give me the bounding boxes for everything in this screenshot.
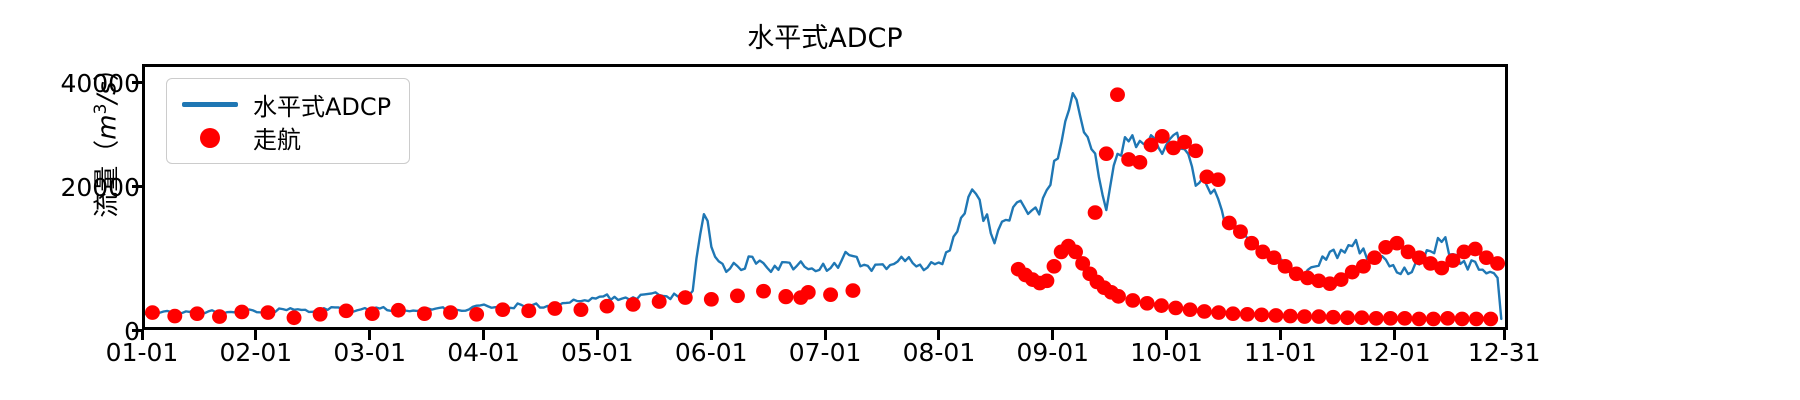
- scatter-point: [1254, 308, 1269, 323]
- y-axis-label-suffix: ）: [93, 55, 123, 81]
- legend-item-zouhang[interactable]: 走航: [179, 121, 391, 154]
- scatter-point: [1188, 143, 1203, 158]
- scatter-point: [793, 290, 808, 305]
- scatter-point: [1340, 310, 1355, 325]
- scatter-point: [730, 288, 745, 303]
- scatter-point: [469, 307, 484, 322]
- scatter-point: [1039, 273, 1054, 288]
- scatter-point: [678, 290, 693, 305]
- scatter-point: [1440, 311, 1455, 326]
- scatter-point: [1111, 289, 1126, 304]
- scatter-point: [190, 306, 205, 321]
- legend-line-swatch-icon: [179, 102, 241, 107]
- scatter-point: [1483, 312, 1498, 327]
- scatter-point: [1367, 250, 1382, 265]
- y-axis-label-prefix: 流量（: [93, 140, 123, 218]
- scatter-point: [145, 305, 160, 320]
- legend-label-adcp: 水平式ADCP: [253, 87, 391, 122]
- scatter-point: [1369, 311, 1384, 326]
- scatter-point: [600, 299, 615, 314]
- scatter-point: [652, 294, 667, 309]
- figure-canvas: 水平式ADCP 40000 20000 0 流量（m3/s） 01-0102-0…: [0, 0, 1800, 400]
- scatter-point: [1311, 309, 1326, 324]
- scatter-point: [1211, 305, 1226, 320]
- scatter-point: [1326, 310, 1341, 325]
- scatter-point: [547, 301, 562, 316]
- y-axis-label-exponent: 3: [91, 104, 111, 115]
- scatter-point: [1426, 312, 1441, 327]
- scatter-point: [1383, 311, 1398, 326]
- scatter-point: [1047, 259, 1062, 274]
- scatter-point: [1233, 224, 1248, 239]
- scatter-point: [845, 283, 860, 298]
- scatter-point: [1412, 312, 1427, 327]
- scatter-point: [260, 305, 275, 320]
- scatter-point: [1154, 298, 1169, 313]
- page-title: 水平式ADCP: [142, 22, 1508, 56]
- scatter-point: [365, 306, 380, 321]
- scatter-point: [1226, 306, 1241, 321]
- scatter-point: [1168, 301, 1183, 316]
- scatter-point: [573, 302, 588, 317]
- scatter-point: [1240, 307, 1255, 322]
- scatter-point: [823, 287, 838, 302]
- ytick-mark-40000: [132, 81, 142, 84]
- scatter-point: [1268, 308, 1283, 323]
- scatter-point: [417, 306, 432, 321]
- scatter-point: [443, 305, 458, 320]
- scatter-point: [167, 309, 182, 324]
- scatter-point: [1155, 129, 1170, 144]
- scatter-point: [778, 289, 793, 304]
- scatter-point: [391, 303, 406, 318]
- scatter-point: [1283, 309, 1298, 324]
- xtick-label-12-31: 12-31: [1424, 338, 1584, 367]
- legend-item-adcp[interactable]: 水平式ADCP: [179, 88, 391, 121]
- scatter-point: [1490, 256, 1505, 271]
- scatter-point: [704, 292, 719, 307]
- y-axis-label-unit: m: [93, 114, 123, 139]
- scatter-point: [495, 302, 510, 317]
- scatter-point: [234, 305, 249, 320]
- legend[interactable]: 水平式ADCP 走航: [166, 78, 410, 164]
- scatter-point: [521, 303, 536, 318]
- scatter-point: [1125, 293, 1140, 308]
- scatter-point: [626, 297, 641, 312]
- scatter-point: [1211, 172, 1226, 187]
- ytick-mark-20000: [132, 185, 142, 188]
- scatter-point: [1183, 302, 1198, 317]
- scatter-point: [1088, 205, 1103, 220]
- scatter-point: [1197, 304, 1212, 319]
- scatter-point: [1354, 310, 1369, 325]
- legend-dot-swatch-icon: [179, 128, 241, 148]
- scatter-point: [1397, 311, 1412, 326]
- scatter-point: [756, 284, 771, 299]
- legend-label-zouhang: 走航: [253, 120, 301, 155]
- scatter-point: [1110, 87, 1125, 102]
- scatter-point: [1132, 155, 1147, 170]
- scatter-point: [1297, 309, 1312, 324]
- scatter-point: [287, 310, 302, 325]
- scatter-point: [339, 303, 354, 318]
- scatter-point: [212, 309, 227, 324]
- scatter-point: [1455, 312, 1470, 327]
- scatter-point: [313, 307, 328, 322]
- y-axis-label: 流量（m3/s）: [87, 0, 124, 277]
- scatter-point: [1099, 146, 1114, 161]
- y-axis-label-mid: /s: [93, 81, 123, 103]
- scatter-point: [1140, 296, 1155, 311]
- scatter-point: [1469, 312, 1484, 327]
